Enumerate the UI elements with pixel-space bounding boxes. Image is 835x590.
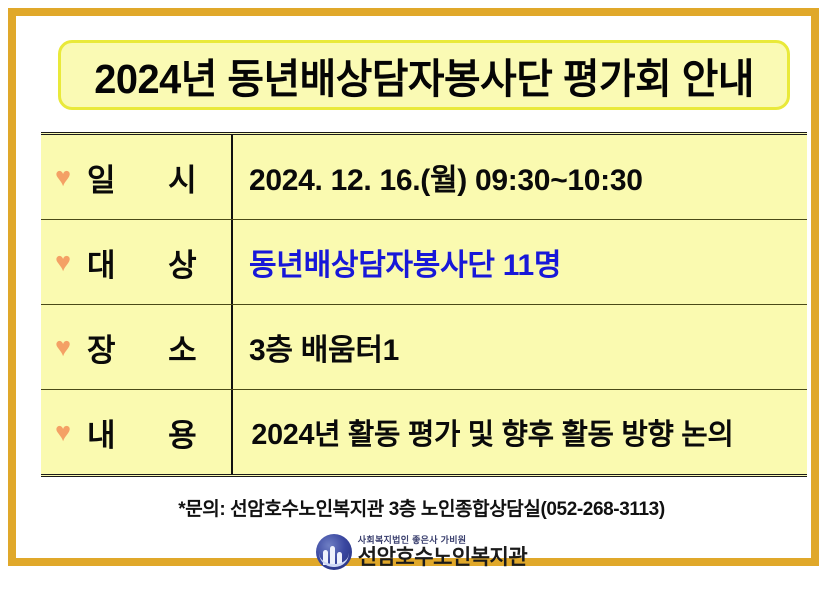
heart-icon: ♥ — [55, 249, 71, 276]
organization-logo: 사회복지법인 좋은사 가비원 선암호수노인복지관 — [16, 534, 827, 570]
poster-title-box: 2024년 동년배상담자봉사단 평가회 안내 — [58, 40, 790, 110]
table-row: ♥ 일 시 2024. 12. 16.(월) 09:30~10:30 — [41, 135, 807, 220]
row-value: 2024. 12. 16.(월) 09:30~10:30 — [249, 155, 643, 199]
table-row: ♥ 대 상 동년배상담자봉사단 11명 — [41, 220, 807, 305]
logo-tagline: 사회복지법인 좋은사 가비원 — [358, 536, 527, 545]
row-value: 2024년 활동 평가 및 향후 활동 방향 논의 — [251, 411, 733, 453]
row-label-cell: ♥ 대 상 — [41, 220, 233, 304]
logo-organization-name: 선암호수노인복지관 — [358, 547, 527, 568]
announcement-info-table: ♥ 일 시 2024. 12. 16.(월) 09:30~10:30 ♥ 대 상… — [41, 132, 807, 477]
logo-text-block: 사회복지법인 좋은사 가비원 선암호수노인복지관 — [358, 536, 527, 568]
table-row: ♥ 장 소 3층 배움터1 — [41, 305, 807, 390]
heart-icon: ♥ — [55, 164, 71, 191]
row-label: 일 시 — [87, 155, 219, 200]
row-label-cell: ♥ 장 소 — [41, 305, 233, 389]
row-value: 3층 배움터1 — [249, 325, 399, 369]
page-title: 2024년 동년배상담자봉사단 평가회 안내 — [94, 45, 754, 105]
row-label-cell: ♥ 일 시 — [41, 135, 233, 219]
poster-container: 2024년 동년배상담자봉사단 평가회 안내 ♥ 일 시 2024. 12. 1… — [8, 8, 819, 566]
table-row: ♥ 내 용 2024년 활동 평가 및 향후 활동 방향 논의 — [41, 390, 807, 474]
row-label-cell: ♥ 내 용 — [41, 390, 233, 474]
row-label: 내 용 — [87, 410, 219, 455]
row-value-cell: 2024년 활동 평가 및 향후 활동 방향 논의 — [233, 390, 807, 474]
contact-note: *문의: 선암호수노인복지관 3층 노인종합상담실(052-268-3113) — [16, 494, 827, 521]
row-label: 장 소 — [87, 325, 219, 370]
row-label: 대 상 — [87, 240, 219, 285]
heart-icon: ♥ — [55, 419, 71, 446]
row-value-cell: 동년배상담자봉사단 11명 — [233, 220, 807, 304]
row-value-cell: 3층 배움터1 — [233, 305, 807, 389]
logo-emblem-icon — [316, 534, 352, 570]
row-value: 동년배상담자봉사단 11명 — [249, 240, 561, 284]
row-value-cell: 2024. 12. 16.(월) 09:30~10:30 — [233, 135, 807, 219]
heart-icon: ♥ — [55, 334, 71, 361]
